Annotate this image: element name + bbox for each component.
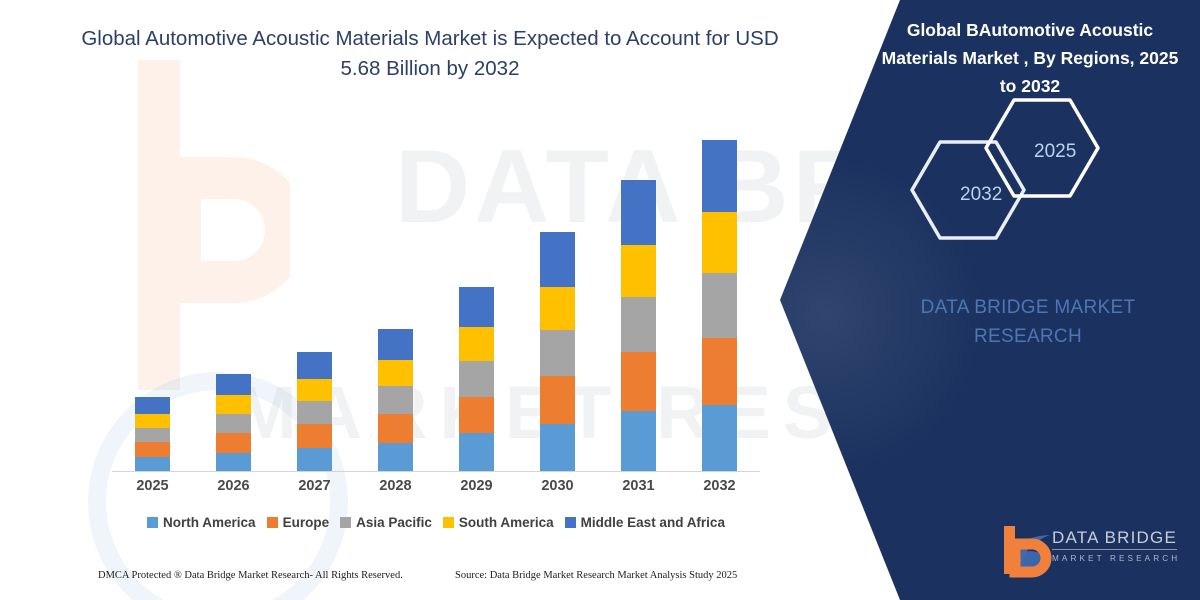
bar-column-2032[interactable]: [679, 140, 760, 472]
bar-segment[interactable]: [135, 442, 170, 457]
bar-segment[interactable]: [459, 397, 494, 434]
stacked-bar[interactable]: [135, 397, 170, 472]
bar-segment[interactable]: [297, 448, 332, 472]
bar-segment[interactable]: [621, 411, 656, 472]
logo-tagline: MARKET RESEARCH: [1052, 554, 1192, 563]
legend-label: North America: [163, 515, 256, 530]
bar-segment[interactable]: [459, 287, 494, 327]
bar-segment[interactable]: [135, 428, 170, 442]
bar-segment[interactable]: [540, 376, 575, 423]
chart-title: Global Automotive Acoustic Materials Mar…: [80, 24, 780, 84]
bar-segment[interactable]: [621, 245, 656, 296]
stacked-bar[interactable]: [621, 180, 656, 472]
legend-label: South America: [459, 515, 554, 530]
side-panel-brand-line2: RESEARCH: [858, 322, 1198, 351]
bar-segment[interactable]: [216, 453, 251, 472]
x-tick-2025: 2025: [112, 478, 193, 494]
bar-segment[interactable]: [297, 401, 332, 424]
legend-label: Europe: [283, 515, 330, 530]
legend-item-europe[interactable]: Europe: [267, 515, 330, 530]
x-tick-2030: 2030: [517, 478, 598, 494]
bar-column-2031[interactable]: [598, 140, 679, 472]
bar-segment[interactable]: [621, 352, 656, 410]
x-tick-2032: 2032: [679, 478, 760, 494]
side-panel-brand: DATA BRIDGE MARKET RESEARCH: [858, 293, 1198, 351]
bar-segment[interactable]: [378, 414, 413, 443]
hexagon-label-2025: 2025: [1034, 141, 1076, 163]
x-tick-2026: 2026: [193, 478, 274, 494]
footer-copyright: DMCA Protected ® Data Bridge Market Rese…: [98, 570, 403, 581]
bar-segment[interactable]: [297, 424, 332, 448]
legend-label: Asia Pacific: [356, 515, 432, 530]
bar-segment[interactable]: [459, 433, 494, 472]
chart-plot-area: [112, 140, 760, 472]
bar-segment[interactable]: [135, 397, 170, 414]
legend-item-north-america[interactable]: North America: [147, 515, 256, 530]
bar-segment[interactable]: [621, 297, 656, 353]
bar-column-2030[interactable]: [517, 140, 598, 472]
x-axis-tick-labels: 20252026202720282029203020312032: [112, 478, 760, 502]
stacked-bar[interactable]: [378, 329, 413, 472]
stacked-bar[interactable]: [297, 352, 332, 472]
bar-segment[interactable]: [540, 232, 575, 287]
bar-segment[interactable]: [216, 433, 251, 452]
bar-segment[interactable]: [297, 352, 332, 378]
bar-segment[interactable]: [216, 414, 251, 433]
bar-segment[interactable]: [135, 414, 170, 428]
bar-segment[interactable]: [378, 386, 413, 413]
bar-segment[interactable]: [540, 424, 575, 473]
bar-column-2026[interactable]: [193, 140, 274, 472]
legend-swatch-icon: [147, 517, 158, 528]
bar-segment[interactable]: [702, 140, 737, 212]
bar-segment[interactable]: [702, 338, 737, 405]
bar-segment[interactable]: [297, 379, 332, 401]
logo-text-block: DATA BRIDGE MARKET RESEARCH: [1052, 528, 1192, 563]
bar-column-2028[interactable]: [355, 140, 436, 472]
bar-segment[interactable]: [135, 457, 170, 472]
legend-swatch-icon: [565, 517, 576, 528]
bar-segment[interactable]: [702, 273, 737, 338]
chart-panel: DATA BRIDGE MARKET RESEARCH Global Autom…: [0, 0, 860, 600]
hexagon-label-2032: 2032: [960, 184, 1002, 206]
x-tick-2029: 2029: [436, 478, 517, 494]
footer-source: Source: Data Bridge Market Research Mark…: [455, 570, 737, 581]
x-tick-2028: 2028: [355, 478, 436, 494]
stacked-bar[interactable]: [459, 287, 494, 472]
legend-item-middle-east-and-africa[interactable]: Middle East and Africa: [565, 515, 725, 530]
legend-item-asia-pacific[interactable]: Asia Pacific: [340, 515, 432, 530]
bar-segment[interactable]: [459, 361, 494, 397]
side-panel-brand-line1: DATA BRIDGE MARKET: [858, 293, 1198, 322]
bar-segment[interactable]: [702, 212, 737, 273]
stacked-bar[interactable]: [216, 374, 251, 472]
x-axis-line: [112, 471, 760, 472]
bar-segment[interactable]: [216, 395, 251, 414]
bar-segment[interactable]: [459, 327, 494, 361]
bar-segment[interactable]: [378, 443, 413, 472]
bar-segment[interactable]: [621, 180, 656, 245]
x-tick-2031: 2031: [598, 478, 679, 494]
legend-item-south-america[interactable]: South America: [443, 515, 554, 530]
x-tick-2027: 2027: [274, 478, 355, 494]
bar-column-2025[interactable]: [112, 140, 193, 472]
chart-legend: North AmericaEuropeAsia PacificSouth Ame…: [112, 515, 760, 530]
bar-column-2029[interactable]: [436, 140, 517, 472]
legend-swatch-icon: [443, 517, 454, 528]
legend-label: Middle East and Africa: [581, 515, 725, 530]
bar-segment[interactable]: [540, 287, 575, 330]
bar-segment[interactable]: [540, 330, 575, 376]
logo-name: DATA BRIDGE: [1052, 528, 1177, 550]
bar-segment[interactable]: [216, 374, 251, 394]
stacked-bar[interactable]: [540, 232, 575, 472]
bar-segment[interactable]: [702, 405, 737, 472]
stacked-bar[interactable]: [702, 140, 737, 472]
bar-column-2027[interactable]: [274, 140, 355, 472]
bar-segment[interactable]: [378, 360, 413, 386]
legend-swatch-icon: [340, 517, 351, 528]
legend-swatch-icon: [267, 517, 278, 528]
bar-segment[interactable]: [378, 329, 413, 359]
